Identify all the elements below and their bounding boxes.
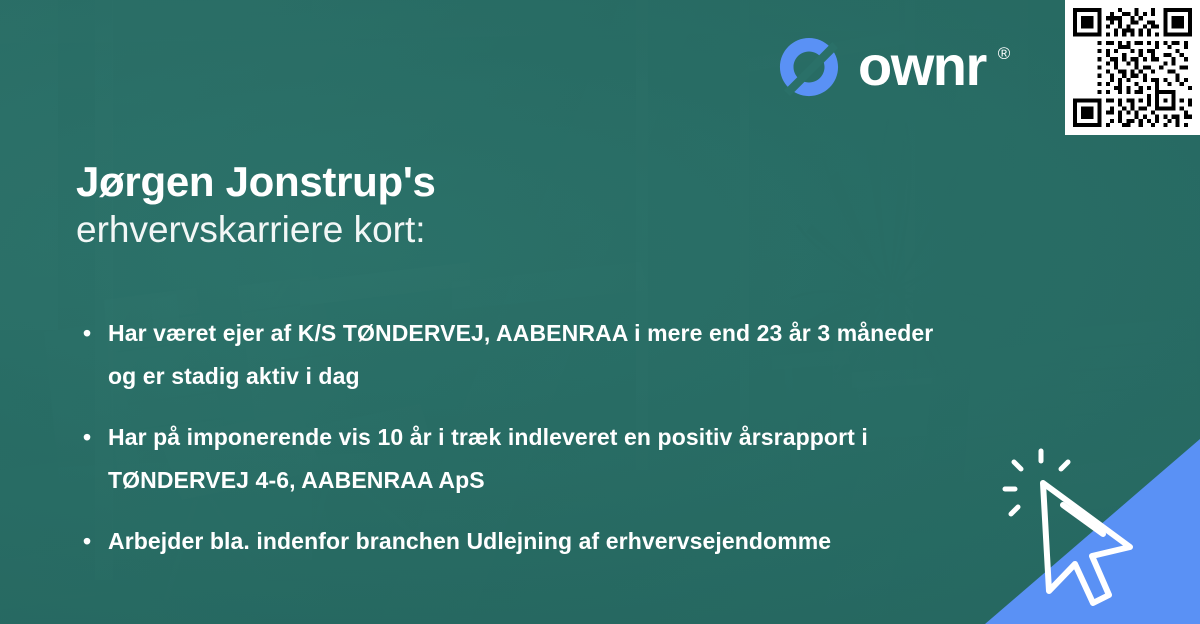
list-item: Har på imponerende vis 10 år i træk indl… [80,416,960,501]
ownr-circle-logo-icon [778,36,840,98]
registered-trademark-symbol: ® [998,45,1011,62]
page-title-line2: erhvervskarriere kort: [76,206,956,254]
logo-wordmark: ownr [858,38,986,94]
list-item: Har været ejer af K/S TØNDERVEJ, AABENRA… [80,312,960,397]
career-card: ownr ® Jørgen Jonstrup's erhvervskarrier… [0,0,1200,624]
list-item: Arbejder bla. indenfor branchen Udlejnin… [80,520,960,563]
corner-accent [985,439,1200,624]
page-title: Jørgen Jonstrup's erhvervskarriere kort: [76,158,956,254]
career-highlights-list: Har været ejer af K/S TØNDERVEJ, AABENRA… [80,312,960,563]
page-title-line1: Jørgen Jonstrup's [76,158,956,206]
ownr-logo[interactable]: ownr ® [778,36,1010,98]
qr-code-icon[interactable] [1065,0,1200,135]
